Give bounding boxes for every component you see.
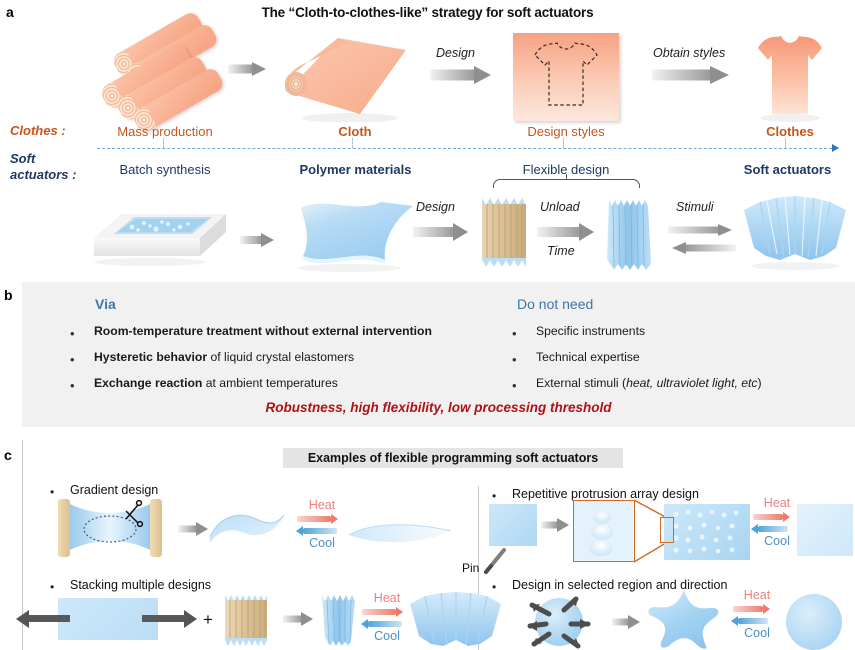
finished-tshirt-illustration: [742, 28, 838, 123]
pin-svg: [478, 546, 518, 578]
c2-fixture-svg: [222, 593, 272, 647]
panel-c-header: Examples of flexible programming soft ac…: [283, 448, 623, 468]
c4-cool-label: Cool: [732, 627, 782, 640]
c2-cool-arrow: [368, 621, 402, 627]
c3-callout-source-box: [660, 517, 674, 543]
c2-stretch-arrow-left-shaft: [28, 615, 70, 622]
c1-cool-label: Cool: [297, 537, 347, 550]
flow-arrow-unload: [537, 222, 595, 242]
c3-flow-arrow: [541, 518, 569, 532]
curved-sheet-svg: [206, 505, 288, 555]
timeline-tick-3: [563, 138, 564, 148]
gradient-flat-sheet-illustration: [347, 515, 455, 553]
c3-cool-arrow: [758, 526, 788, 532]
flow-arrow-stimuli-forward: [668, 222, 736, 238]
c2-flow-arrow: [283, 612, 313, 626]
dnn-bullet-1: •: [512, 327, 517, 340]
c2-heat-label: Heat: [362, 592, 412, 605]
flow-arrow-batch-to-polymer: [240, 232, 274, 248]
c3-array-dots-svg: [664, 504, 750, 560]
fan-soft-actuator-illustration: [740, 192, 850, 272]
dnn-item-3-plain: External stimuli (: [536, 376, 626, 390]
via-bullet-2: •: [70, 353, 75, 366]
petri-dish-svg: [88, 196, 233, 268]
c2-bullet: •: [50, 580, 54, 594]
c2-folded-actuator: [318, 593, 360, 647]
c1-heat-arrow: [297, 516, 331, 522]
c3-cool-label: Cool: [752, 535, 802, 548]
c1-label: Gradient design: [70, 483, 158, 497]
c2-stretch-arrow-right-head: [184, 610, 197, 628]
c4-heat-arrow: [733, 606, 763, 612]
process-label-time: Time: [547, 244, 575, 258]
panel-letter-b: b: [4, 287, 13, 303]
c2-folded-svg: [318, 593, 360, 647]
process-label-stimuli: Stimuli: [676, 200, 714, 214]
via-item-2: Hysteretic behavior of liquid crystal el…: [94, 350, 354, 364]
via-item-1-bold: Room-temperature treatment without exter…: [94, 324, 432, 338]
pleat-fixture-illustration: [478, 192, 530, 272]
timeline-tick-1: [163, 138, 164, 148]
c3-protrusion-zoom-svg: [574, 501, 633, 560]
dnn-item-2-plain: Technical expertise: [536, 350, 640, 364]
process-label-design-bottom: Design: [416, 200, 455, 214]
c1-heat-label: Heat: [297, 499, 347, 512]
figure-root: a The “Cloth-to-clothes-like” strategy f…: [0, 0, 855, 650]
c2-cool-label: Cool: [362, 630, 412, 643]
flow-arrow-cloth-to-design: [430, 64, 492, 86]
row-label-soft-line1: Soft: [10, 152, 35, 166]
process-label-design-top: Design: [436, 46, 475, 60]
c3-source-sheet: [489, 504, 537, 546]
stage-label-batch-synthesis: Batch synthesis: [100, 162, 230, 177]
c2-heat-arrow: [362, 609, 396, 615]
flow-arrow-mass-to-cloth: [228, 60, 266, 78]
c2-fan-actuator: [408, 590, 503, 650]
timeline-tick-2: [352, 138, 353, 148]
c3-flat-result-sheet: [797, 504, 853, 556]
c2-cool-arrowhead: [361, 619, 368, 629]
via-item-3-bold: Exchange reaction: [94, 376, 202, 390]
c3-callout-box: [573, 500, 635, 562]
c4-cool-arrowhead: [731, 616, 738, 626]
stage-label-soft-actuators: Soft actuators: [720, 162, 855, 177]
c1-cool-arrowhead: [296, 526, 303, 536]
via-item-2-rest: of liquid crystal elastomers: [207, 350, 354, 364]
flow-arrow-stimuli-reverse: [668, 240, 736, 256]
flat-lens-svg: [347, 515, 455, 553]
pleat-fixture-svg: [478, 192, 530, 272]
c2-heat-arrowhead: [396, 607, 403, 617]
dnn-bullet-2: •: [512, 353, 517, 366]
batch-synthesis-illustration: [88, 196, 233, 268]
flow-arrow-design-to-clothes: [652, 64, 732, 86]
via-item-3-rest: at ambient temperatures: [202, 376, 338, 390]
via-bullet-3: •: [70, 379, 75, 392]
c3-bullet: •: [492, 489, 496, 503]
cloth-illustration: [278, 32, 428, 122]
c4-star-actuator: [644, 588, 724, 650]
tshirt-filled-svg: [742, 28, 838, 123]
flexible-design-bracket: [493, 179, 640, 188]
dnn-item-3: External stimuli (heat, ultraviolet ligh…: [536, 376, 762, 390]
panel-b-container: Via Do not need • Room-temperature treat…: [22, 282, 855, 427]
c3-heat-arrow: [753, 514, 783, 520]
c2-stretch-arrow-left-head: [16, 610, 29, 628]
figure-title: The “Cloth-to-clothes-like” strategy for…: [0, 5, 855, 20]
dnn-item-3-tail: ): [758, 376, 762, 390]
stage-label-polymer-materials: Polymer materials: [283, 162, 428, 177]
c3-pin-icon: [478, 546, 518, 578]
stage-label-mass-production: Mass production: [100, 124, 230, 139]
via-item-2-bold: Hysteretic behavior: [94, 350, 207, 364]
c4-disc-svg: [516, 594, 602, 650]
c4-star-svg: [644, 588, 724, 650]
timeline-axis: [97, 148, 832, 149]
pleated-actuator-closed-illustration: [602, 192, 656, 272]
c4-disc-result: [786, 594, 842, 650]
row-label-clothes: Clothes :: [10, 124, 66, 138]
gradient-design-svg: [48, 497, 173, 559]
process-label-obtain-styles: Obtain styles: [653, 46, 725, 60]
flexible-design-bracket-stem: [566, 174, 567, 180]
stage-label-cloth: Cloth: [290, 124, 420, 139]
c3-protrusion-array-sheet: [664, 504, 750, 560]
c2-pleat-fixture: [222, 593, 272, 647]
dnn-item-1: Specific instruments: [536, 324, 645, 338]
c4-bullet: •: [492, 580, 496, 594]
pleated-closed-svg: [602, 192, 656, 272]
tshirt-outline-dashed-svg: [513, 33, 619, 121]
stage-label-design-styles: Design styles: [501, 124, 631, 139]
via-heading: Via: [95, 296, 116, 312]
dnn-item-3-italic: heat, ultraviolet light, etc: [626, 376, 757, 390]
timeline-arrowhead: [832, 144, 839, 152]
gradient-curved-sheet-illustration: [206, 505, 288, 555]
via-bullet-1: •: [70, 327, 75, 340]
c4-heat-label: Heat: [732, 589, 782, 602]
c3-pin-label: Pin: [462, 561, 479, 575]
via-item-3: Exchange reaction at ambient temperature…: [94, 376, 338, 390]
dnn-item-2: Technical expertise: [536, 350, 640, 364]
dnn-item-1-plain: Specific instruments: [536, 324, 645, 338]
panel-b-tagline: Robustness, high flexibility, low proces…: [22, 400, 855, 415]
dnn-bullet-3: •: [512, 379, 517, 392]
do-not-need-heading: Do not need: [517, 296, 593, 312]
c4-disc-with-arrows: [516, 594, 602, 650]
c3-cool-arrowhead: [751, 524, 758, 534]
gradient-design-illustration: [48, 497, 173, 559]
row-label-soft-line2: actuators :: [10, 168, 76, 182]
stage-label-clothes: Clothes: [725, 124, 855, 139]
c4-cool-arrow: [738, 618, 768, 624]
cloth-svg: [278, 32, 428, 122]
design-styles-illustration: [513, 33, 619, 121]
fan-actuator-svg: [740, 192, 850, 272]
c2-fan-svg: [408, 590, 503, 650]
c3-heat-label: Heat: [752, 497, 802, 510]
c2-stretch-arrow-right-shaft: [142, 615, 184, 622]
c4-heat-arrowhead: [763, 604, 770, 614]
timeline-tick-4: [785, 138, 786, 148]
c1-heat-arrowhead: [331, 514, 338, 524]
c4-flow-arrow: [612, 615, 640, 629]
panel-letter-c: c: [4, 447, 12, 463]
c1-flow-arrow-1: [178, 522, 208, 536]
flow-arrow-polymer-to-design: [413, 222, 469, 242]
c2-plus-icon: +: [203, 610, 213, 630]
fabric-rolls-illustration: [95, 30, 225, 120]
process-label-unload: Unload: [540, 200, 580, 214]
c1-cool-arrow: [303, 528, 337, 534]
c3-heat-arrowhead: [783, 512, 790, 522]
c2-label: Stacking multiple designs: [70, 578, 211, 592]
via-item-1: Room-temperature treatment without exter…: [94, 324, 432, 338]
